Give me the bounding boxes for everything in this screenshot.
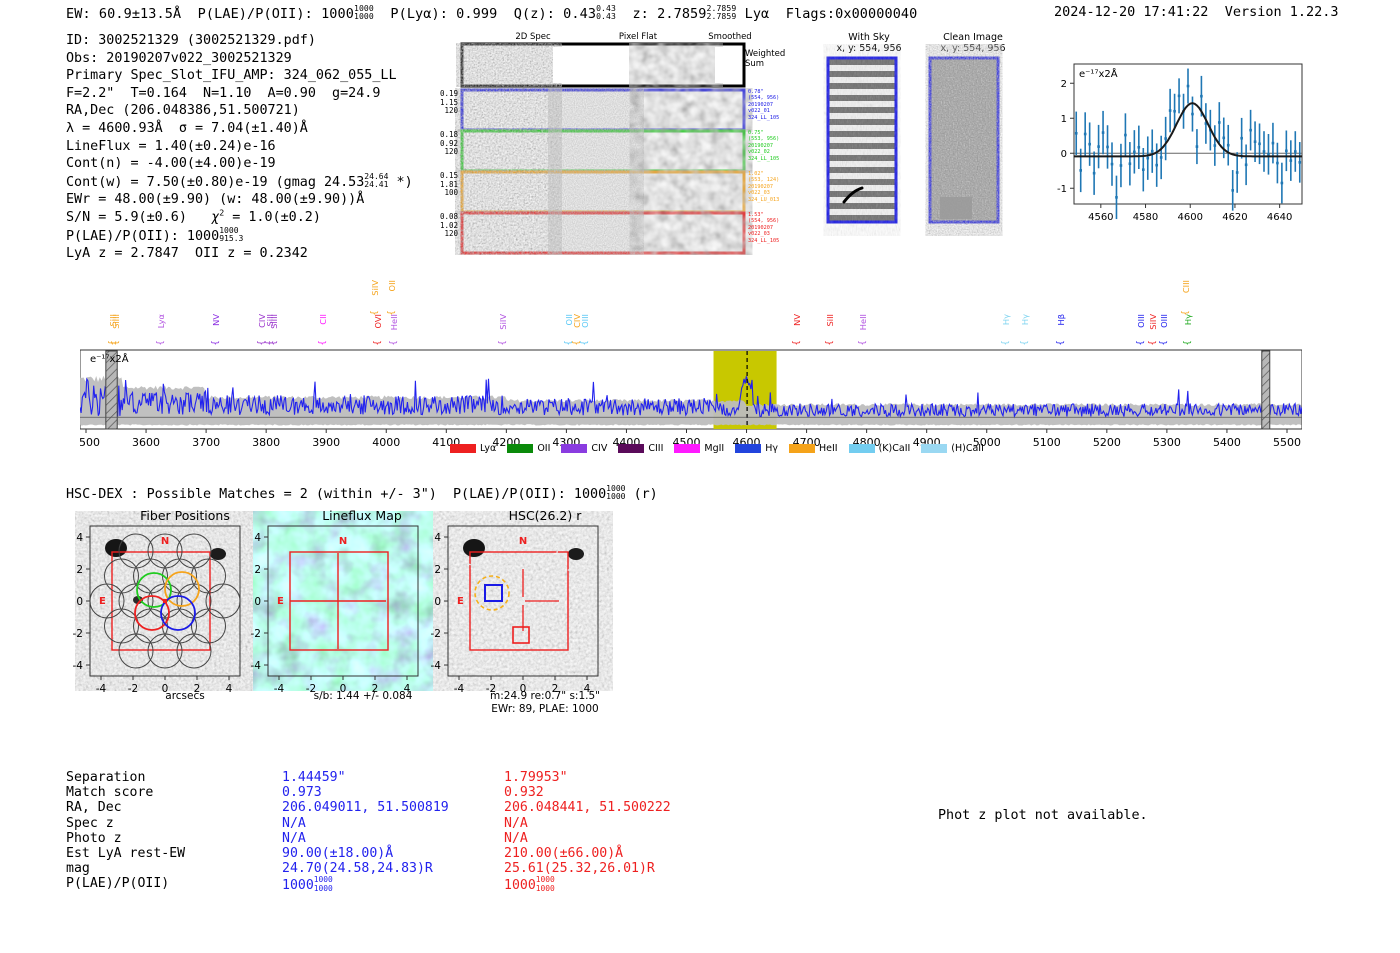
header-qz: Q(z): 0.430.430.43 — [514, 6, 616, 22]
table-row: mag24.70(24.58,24.83)R25.61(25.32,26.01)… — [66, 861, 726, 876]
emission-line-label: Hγ — [1183, 314, 1193, 325]
info-id: ID: 3002521329 (3002521329.pdf) — [66, 32, 413, 50]
emission-line-label: Hγ — [1001, 314, 1011, 325]
emission-line-label: OII — [387, 280, 397, 291]
fiber-left-values-3: 0.151.81100 — [428, 172, 458, 198]
svg-text:4620: 4620 — [1222, 212, 1247, 223]
header-redshift: z: 2.78592.78592.7859 Lyα — [632, 6, 769, 22]
fiber-right-meta-3: 1.02"(553, 124)20190207v022_03324_LU_013 — [748, 171, 796, 203]
match-value-col2: 1.79953" — [504, 770, 726, 785]
match-row-label: Spec z — [66, 816, 282, 831]
with-sky-image — [828, 58, 896, 222]
fiber-left-values-2: 0.180.92120 — [428, 131, 458, 157]
legend-label: (H)CaII — [951, 443, 984, 454]
emission-line-brace: { — [792, 340, 802, 346]
svg-text:0: 0 — [254, 596, 261, 608]
svg-text:2: 2 — [1061, 79, 1067, 90]
table-row: Est LyA rest-EW90.00(±18.00)Å210.00(±66.… — [66, 846, 726, 861]
legend-item: HeII — [789, 443, 838, 454]
match-value-col1: N/A — [282, 816, 504, 831]
hsc-r-subtext: m:24.9 re:0.7" s:1.5"EWr: 89, PLAE: 1000 — [445, 690, 645, 716]
emission-line-brace: { — [373, 340, 383, 346]
match-row-label: mag — [66, 861, 282, 876]
emission-line-label: HeII — [389, 314, 399, 330]
emission-line-brace: { — [858, 340, 868, 346]
svg-text:1: 1 — [1061, 114, 1067, 125]
legend-item: Lyα — [450, 443, 496, 454]
cutout-panel-2 — [444, 526, 598, 680]
info-redshifts: LyA z = 2.7847 OII z = 0.2342 — [66, 245, 413, 263]
svg-text:3700: 3700 — [192, 436, 220, 449]
svg-text:4: 4 — [254, 532, 261, 544]
match-value-col2: 100010001000 — [504, 876, 726, 893]
emission-line-label: SiIII — [269, 314, 279, 329]
match-value-col2: 25.61(25.32,26.01)R — [504, 861, 726, 876]
match-value-col2: N/A — [504, 831, 726, 846]
legend-swatch — [561, 444, 587, 453]
info-primary-spec: Primary Spec_Slot_IFU_AMP: 324_062_055_L… — [66, 67, 413, 85]
svg-text:3900: 3900 — [312, 436, 340, 449]
svg-text:-2: -2 — [431, 628, 441, 640]
line-fit-plot: 45604580460046204640-1012e⁻¹⁷x2Å — [1040, 52, 1310, 257]
match-value-col1: 0.973 — [282, 785, 504, 800]
info-plae: P(LAE)/P(OII): 10001000915.3 — [66, 227, 413, 246]
svg-text:5100: 5100 — [1033, 436, 1061, 449]
emission-line-label: SiII — [825, 314, 835, 326]
table-row: Photo zN/AN/A — [66, 831, 726, 846]
emission-line-label: Hγ — [1020, 314, 1030, 325]
emission-line-label: SiIV — [370, 280, 380, 296]
table-row: P(LAE)/P(OII)100010001000100010001000 — [66, 876, 726, 893]
info-wavelength-sigma: λ = 4600.93Å σ = 7.04(±1.40)Å — [66, 120, 413, 138]
emission-line-brace: { — [111, 340, 121, 346]
svg-text:4: 4 — [76, 532, 83, 544]
info-obs: Obs: 20190207v022_3002521329 — [66, 50, 413, 68]
svg-text:-4: -4 — [431, 660, 442, 672]
emission-line-brace: { — [825, 340, 835, 346]
legend-label: (K)CaII — [879, 443, 911, 454]
emission-line-label: SiIV — [1148, 314, 1158, 330]
info-cont-w: Cont(w) = 7.50(±0.80)e-19 (gmag 24.5324.… — [66, 173, 413, 192]
svg-text:N: N — [339, 536, 347, 547]
emission-line-label: SiIII — [111, 314, 121, 329]
legend-item: OII — [507, 443, 550, 454]
svg-text:2: 2 — [434, 564, 441, 576]
svg-text:4580: 4580 — [1133, 212, 1158, 223]
spectrum-legend: LyαOIICIVCIIIMgIIHγHeII(K)CaII(H)CaII — [450, 443, 984, 454]
svg-text:2: 2 — [76, 564, 83, 576]
emission-line-label: OVI — [373, 314, 383, 329]
fiber-positions-title: Fiber Positions — [90, 508, 280, 523]
svg-text:5500: 5500 — [1273, 436, 1301, 449]
svg-text:-2: -2 — [251, 628, 261, 640]
emission-line-brace: { — [1136, 340, 1146, 346]
emission-line-brace: { — [1020, 340, 1030, 346]
emission-line-label: NV — [211, 314, 221, 326]
fiber-right-meta-2: 0.75"(553, 956)20190207v022_02324_LL_105 — [748, 130, 796, 162]
emission-line-label: Lyα — [156, 314, 166, 328]
hsc-r-title: HSC(26.2) r — [450, 508, 640, 523]
svg-text:3600: 3600 — [132, 436, 160, 449]
header-ew: EW: 60.9±13.5Å — [66, 6, 181, 22]
legend-swatch — [507, 444, 533, 453]
clean-image — [930, 58, 998, 222]
svg-text:0: 0 — [434, 596, 441, 608]
svg-text:-4: -4 — [73, 660, 84, 672]
cutout-panel-group: Fiber Positions Lineflux Map HSC(26.2) r… — [60, 508, 660, 748]
table-row: RA, Dec206.049011, 51.500819206.048441, … — [66, 800, 726, 815]
svg-text:4600: 4600 — [1178, 212, 1203, 223]
svg-text:e⁻¹⁷x2Å: e⁻¹⁷x2Å — [1079, 67, 1118, 80]
legend-swatch — [789, 444, 815, 453]
emission-line-brace: { — [211, 340, 221, 346]
legend-item: MgII — [674, 443, 724, 454]
table-row: Separation1.44459"1.79953" — [66, 770, 726, 785]
match-row-label: RA, Dec — [66, 800, 282, 815]
legend-swatch — [450, 444, 476, 453]
svg-text:4560: 4560 — [1088, 212, 1113, 223]
match-value-col2: 0.932 — [504, 785, 726, 800]
emission-line-brace: { — [1056, 340, 1066, 346]
svg-text:E: E — [277, 596, 284, 607]
version: Version 1.22.3 — [1225, 4, 1339, 20]
svg-text:e⁻¹⁷x2Å: e⁻¹⁷x2Å — [90, 352, 129, 365]
legend-swatch — [849, 444, 875, 453]
emission-line-label: HeII — [858, 314, 868, 330]
detection-info-block: ID: 3002521329 (3002521329.pdf) Obs: 201… — [66, 32, 413, 263]
sky-clean-cutout-group: With Skyx, y: 554, 956 Clean Imagex, y: … — [800, 32, 1030, 262]
twod-spec-panel-group: 2D Spec Pixel Flat Smoothed WeightedSum — [440, 32, 780, 257]
svg-text:-4: -4 — [251, 660, 262, 672]
legend-label: CIV — [591, 443, 607, 454]
emission-line-brace: { — [498, 340, 508, 346]
legend-label: CIII — [648, 443, 663, 454]
emission-line-brace: { — [156, 340, 166, 346]
legend-item: Hγ — [735, 443, 778, 454]
emission-line-brace: { — [1001, 340, 1011, 346]
legend-item: CIV — [561, 443, 607, 454]
emission-line-brace: { — [1148, 340, 1158, 346]
match-value-col2: 210.00(±66.00)Å — [504, 846, 726, 861]
legend-item: (K)CaII — [849, 443, 911, 454]
match-value-col2: 206.048441, 51.500222 — [504, 800, 726, 815]
match-value-col1: 90.00(±18.00)Å — [282, 846, 504, 861]
emission-line-brace: { — [1159, 340, 1169, 346]
header-timestamp-version: 2024-12-20 17:41:22 Version 1.22.3 — [1054, 4, 1339, 20]
svg-text:3800: 3800 — [252, 436, 280, 449]
svg-text:N: N — [161, 536, 169, 547]
legend-swatch — [618, 444, 644, 453]
emission-line-label: SiIV — [498, 314, 508, 330]
match-value-col1: N/A — [282, 831, 504, 846]
emission-line-brace: { — [1183, 340, 1193, 346]
match-value-col1: 206.049011, 51.500819 — [282, 800, 504, 815]
legend-swatch — [735, 444, 761, 453]
fiber-positions-xlabel: arcsecs — [90, 690, 280, 702]
fiber-right-meta-4: 1.53"(554, 956)20190207v022_03324_LL_105 — [748, 212, 796, 244]
svg-text:5300: 5300 — [1153, 436, 1181, 449]
legend-item: CIII — [618, 443, 663, 454]
info-cont-n: Cont(n) = -4.00(±4.00)e-19 — [66, 155, 413, 173]
match-properties-table: Separation1.44459"1.79953"Match score0.9… — [66, 770, 726, 894]
emission-line-label: OIII — [1136, 314, 1146, 328]
header-plya: P(Lyα): 0.999 — [390, 6, 497, 22]
emission-line-label: OIII — [580, 314, 590, 328]
match-value-col1: 1.44459" — [282, 770, 504, 785]
table-row: Spec zN/AN/A — [66, 816, 726, 831]
emission-line-brace: { — [580, 340, 590, 346]
fiber-left-values-4: 0.081.02120 — [428, 213, 458, 239]
match-row-label: P(LAE)/P(OII) — [66, 876, 282, 893]
info-lineflux: LineFlux = 1.40(±0.24)e-16 — [66, 138, 413, 156]
legend-label: Hγ — [765, 443, 778, 454]
header-flags: Flags:0x00000040 — [786, 6, 918, 22]
match-row-label: Match score — [66, 785, 282, 800]
match-row-label: Separation — [66, 770, 282, 785]
svg-text:-1: -1 — [1057, 184, 1067, 195]
svg-text:5400: 5400 — [1213, 436, 1241, 449]
match-value-col2: N/A — [504, 816, 726, 831]
svg-text:0: 0 — [1061, 149, 1067, 160]
emission-line-brace: { — [269, 340, 279, 346]
svg-text:N: N — [519, 536, 527, 547]
fiber-right-meta-1: 0.78"(554, 956)20190207v022_01324_LL_105 — [748, 89, 796, 121]
header-summary-line: EW: 60.9±13.5Å P(LAE)/P(OII): 1000100010… — [66, 4, 917, 22]
cutout-panel-1 — [264, 526, 418, 680]
info-radec: RA,Dec (206.048386,51.500721) — [66, 102, 413, 120]
emission-line-label: CIII — [1181, 280, 1191, 293]
hscdex-summary-line: HSC-DEX : Possible Matches = 2 (within +… — [66, 485, 658, 502]
legend-item: (H)CaII — [921, 443, 984, 454]
svg-text:E: E — [99, 596, 106, 607]
lineflux-map-subtext: s/b: 1.44 +/- 0.084 — [268, 690, 458, 703]
emission-line-label: CII — [318, 314, 328, 325]
legend-label: OII — [537, 443, 550, 454]
timestamp: 2024-12-20 17:41:22 — [1054, 4, 1208, 20]
legend-swatch — [921, 444, 947, 453]
svg-text:4640: 4640 — [1267, 212, 1292, 223]
svg-text:0: 0 — [76, 596, 83, 608]
twod-weighted-sum-row — [462, 44, 744, 86]
legend-swatch — [674, 444, 700, 453]
svg-text:-2: -2 — [73, 628, 83, 640]
legend-label: Lyα — [480, 443, 496, 454]
svg-text:2: 2 — [254, 564, 261, 576]
cutout-panel-0 — [86, 526, 240, 680]
legend-label: MgII — [704, 443, 724, 454]
svg-text:3500: 3500 — [80, 436, 100, 449]
twod-fiber-rows — [462, 90, 744, 253]
svg-text:5200: 5200 — [1093, 436, 1121, 449]
header-plae: P(LAE)/P(OII): 100010001000 — [198, 6, 374, 22]
photz-unavailable-note: Phot z plot not available. — [938, 808, 1148, 823]
table-row: Match score0.9730.932 — [66, 785, 726, 800]
emission-line-label: OIII — [1159, 314, 1169, 328]
info-seeing-params: F=2.2" T=0.164 N=1.10 A=0.90 g=24.9 — [66, 85, 413, 103]
match-row-label: Est LyA rest-EW — [66, 846, 282, 861]
svg-text:4000: 4000 — [372, 436, 400, 449]
match-row-label: Photo z — [66, 831, 282, 846]
svg-text:E: E — [457, 596, 464, 607]
match-value-col1: 100010001000 — [282, 876, 504, 893]
info-ewr: EWr = 48.00(±9.90) (w: 48.00(±9.90))Å — [66, 191, 413, 209]
legend-label: HeII — [819, 443, 838, 454]
emission-line-brace: { — [318, 340, 328, 346]
lineflux-map-title: Lineflux Map — [272, 508, 452, 523]
emission-line-label: Hβ — [1056, 314, 1066, 326]
full-spectrum-plot: 3500360037003800390040004100420043004400… — [80, 278, 1302, 458]
emission-line-brace: { — [389, 340, 399, 346]
emission-line-label: NV — [792, 314, 802, 326]
match-value-col1: 24.70(24.58,24.83)R — [282, 861, 504, 876]
info-sn-chi2: S/N = 5.9(±0.6) χ2 = 1.0(±0.2) — [66, 209, 413, 227]
svg-text:4: 4 — [434, 532, 441, 544]
fiber-left-values-1: 0.191.15120 — [428, 90, 458, 116]
